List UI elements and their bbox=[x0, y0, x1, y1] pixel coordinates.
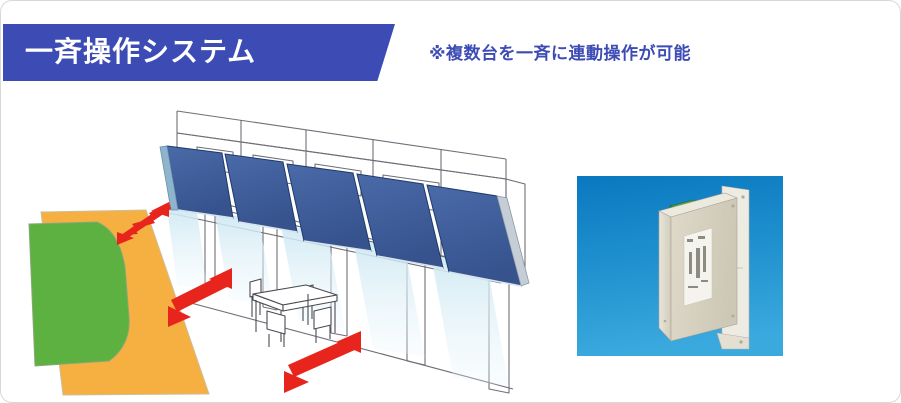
page-title: 一斉操作システム bbox=[25, 30, 256, 74]
awning-system-illustration bbox=[1, 89, 561, 399]
control-unit-photo bbox=[577, 176, 783, 356]
product-feature-card: 一斉操作システム ※複数台を一斉に連動操作が可能 bbox=[0, 0, 901, 403]
subtitle-note: ※複数台を一斉に連動操作が可能 bbox=[429, 39, 691, 64]
lawn-shape bbox=[29, 222, 129, 366]
movement-arrow-3 bbox=[284, 331, 361, 393]
product-label bbox=[684, 228, 712, 306]
